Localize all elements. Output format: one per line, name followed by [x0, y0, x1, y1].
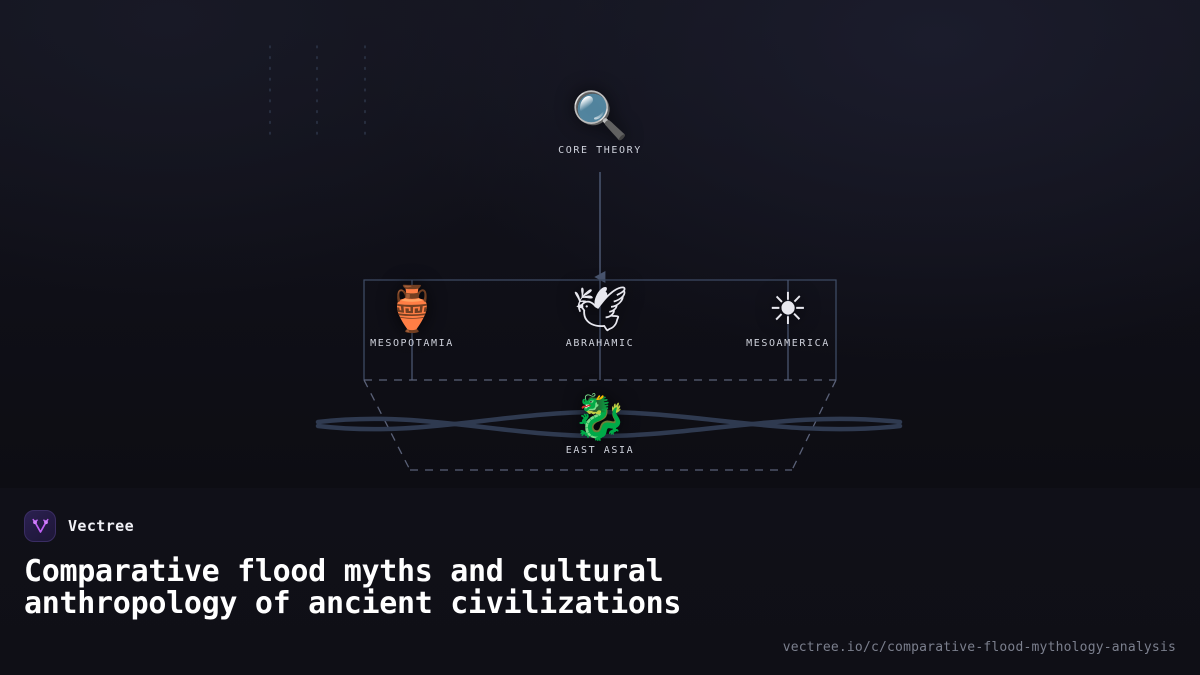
- share-url: vectree.io/c/comparative-flood-mythology…: [783, 640, 1176, 655]
- node-abrahamic[interactable]: 🕊 ABRAHAMIC: [495, 288, 705, 349]
- node-core-theory[interactable]: 🔍 CORE THEORY: [495, 92, 705, 156]
- sun-icon: ☀: [683, 288, 893, 332]
- node-label: EAST ASIA: [495, 445, 705, 456]
- dot-grid-decoration: [270, 46, 365, 134]
- diagram-canvas: 🔍 CORE THEORY 🏺 MESOPOTAMIA 🕊 ABRAHAMIC …: [0, 0, 1200, 488]
- vectree-v-logo-icon: [24, 510, 56, 542]
- node-label: ABRAHAMIC: [495, 338, 705, 349]
- dove-icon: 🕊: [495, 288, 705, 332]
- footer: Vectree Comparative flood myths and cult…: [0, 488, 1200, 675]
- node-label: MESOPOTAMIA: [307, 338, 517, 349]
- brand: Vectree: [24, 510, 1176, 542]
- amphora-icon: 🏺: [307, 288, 517, 332]
- node-mesoamerica[interactable]: ☀ MESOAMERICA: [683, 288, 893, 349]
- magnifying-glass-icon: 🔍: [495, 92, 705, 138]
- node-mesopotamia[interactable]: 🏺 MESOPOTAMIA: [307, 288, 517, 349]
- node-east-asia[interactable]: 🐉 EAST ASIA: [495, 396, 705, 456]
- dragon-icon: 🐉: [495, 396, 705, 440]
- page-title: Comparative flood myths and cultural ant…: [24, 556, 784, 620]
- node-label: CORE THEORY: [495, 145, 705, 156]
- brand-name: Vectree: [68, 517, 134, 535]
- node-label: MESOAMERICA: [683, 338, 893, 349]
